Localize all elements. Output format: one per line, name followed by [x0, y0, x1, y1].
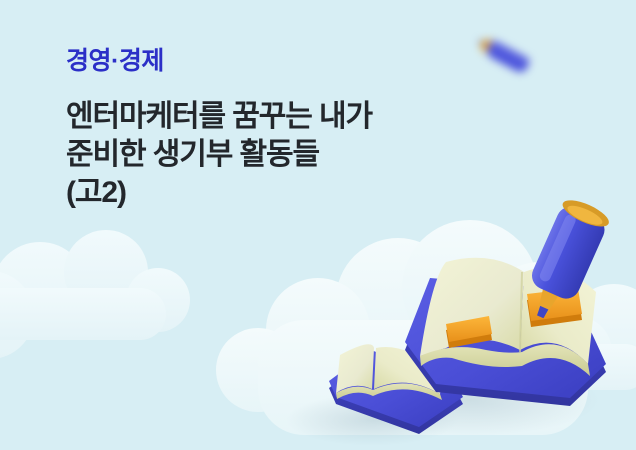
book-shadow-small: [286, 394, 458, 446]
title-line-3: (고2): [66, 174, 536, 212]
blue-highlighter-marker: [517, 195, 612, 327]
orange-highlight-mark-right: [527, 288, 582, 327]
title-line-1: 엔터마케터를 꿈꾸는 내가: [66, 98, 536, 136]
cloud-center: [216, 220, 598, 435]
large-open-book: [405, 258, 606, 406]
book-shadow-large: [340, 364, 600, 436]
title-line-2: 준비한 생기부 활동들: [66, 136, 536, 174]
small-open-book: [329, 344, 463, 434]
category-label: 경영·경제: [66, 48, 536, 76]
cloud-right: [540, 284, 636, 390]
page-title: 엔터마케터를 꿈꾸는 내가 준비한 생기부 활동들 (고2): [66, 98, 536, 213]
cloud-left: [0, 230, 190, 359]
text-block: 경영·경제 엔터마케터를 꿈꾸는 내가 준비한 생기부 활동들 (고2): [66, 48, 536, 213]
thumbnail-card: 경영·경제 엔터마케터를 꿈꾸는 내가 준비한 생기부 활동들 (고2): [0, 0, 636, 450]
orange-highlight-mark-left: [446, 316, 492, 348]
